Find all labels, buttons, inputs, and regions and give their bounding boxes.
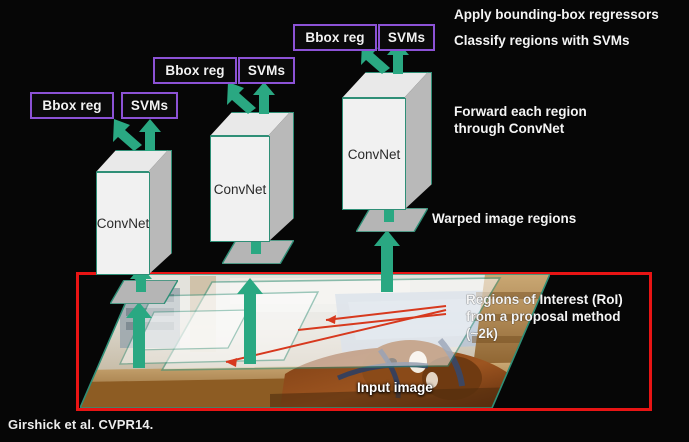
chip-svms-3[interactable]: SVMs	[378, 24, 435, 51]
caption-forward-region: Forward each region through ConvNet	[454, 103, 587, 137]
citation-text: Girshick et al. CVPR14.	[8, 417, 153, 432]
arrow-image-to-warped-2	[237, 278, 263, 364]
caption-warped-regions: Warped image regions	[432, 211, 576, 226]
caption-apply-regressors: Apply bounding-box regressors	[454, 6, 659, 23]
convnet-box-2-label: ConvNet	[210, 136, 270, 242]
convnet-box-3: ConvNet	[342, 72, 450, 210]
chip-bbox-reg-1[interactable]: Bbox reg	[30, 92, 114, 119]
arrow-convnet2-to-bbox	[226, 82, 256, 114]
arrow-image-to-warped-1	[126, 302, 152, 368]
chip-bbox-reg-2[interactable]: Bbox reg	[153, 57, 237, 84]
arrow-convnet1-to-bbox	[112, 119, 142, 151]
chip-bbox-reg-3[interactable]: Bbox reg	[293, 24, 377, 51]
convnet-box-2: ConvNet	[210, 112, 314, 242]
roi-pointer-arrows	[130, 290, 450, 390]
convnet-box-3-label: ConvNet	[342, 98, 406, 210]
chip-svms-2[interactable]: SVMs	[238, 57, 295, 84]
caption-classify-regions: Classify regions with SVMs	[454, 32, 630, 49]
caption-roi: Regions of Interest (RoI) from a proposa…	[466, 291, 623, 342]
arrow-convnet2-to-svms	[253, 82, 275, 114]
arrow-convnet1-to-svms	[139, 119, 161, 151]
input-image-label: Input image	[357, 380, 433, 395]
convnet-box-1-side	[148, 150, 172, 275]
convnet-box-1-label: ConvNet	[96, 172, 150, 275]
arrow-image-to-warped-3	[374, 230, 400, 292]
figure-canvas: Input image	[0, 0, 689, 442]
convnet-box-1: ConvNet	[96, 150, 192, 275]
chip-svms-1[interactable]: SVMs	[121, 92, 178, 119]
